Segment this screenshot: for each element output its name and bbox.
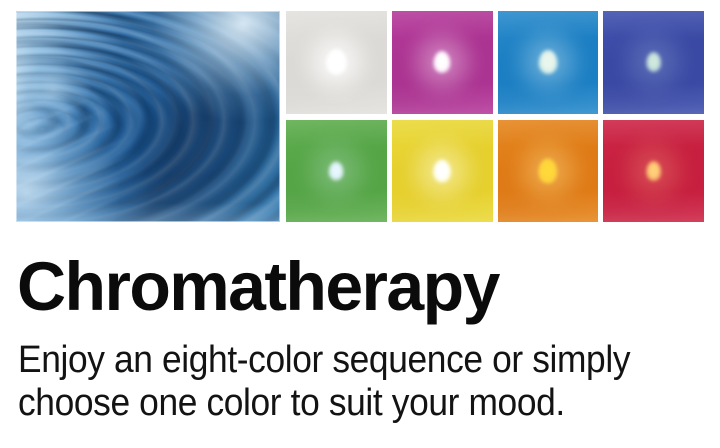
tile-magenta-shading: [392, 11, 493, 114]
tile-green: [286, 120, 387, 223]
page-subcopy: Enjoy an eight-color sequence or simply …: [18, 339, 650, 425]
tile-magenta: [392, 11, 493, 114]
color-tile-grid: [286, 11, 704, 222]
hero-inner-border: [16, 11, 280, 222]
water-ripple-image: [16, 11, 280, 222]
page-subcopy-line-1: Enjoy an eight-color sequence or simply: [18, 339, 650, 382]
tile-green-shading: [286, 120, 387, 223]
tile-red-shading: [603, 120, 704, 223]
tile-orange: [498, 120, 599, 223]
tile-yellow-shading: [392, 120, 493, 223]
tile-white: [286, 11, 387, 114]
chromatherapy-page: Chromatherapy Enjoy an eight-color seque…: [0, 0, 720, 448]
page-subcopy-line-2: choose one color to suit your mood.: [18, 382, 650, 425]
tile-white-shading: [286, 11, 387, 114]
tile-cyan-blue: [498, 11, 599, 114]
tile-indigo-shading: [603, 11, 704, 114]
tile-cyan-blue-shading: [498, 11, 599, 114]
media-strip: [0, 0, 720, 235]
page-title: Chromatherapy: [17, 252, 499, 321]
tile-red: [603, 120, 704, 223]
tile-indigo: [603, 11, 704, 114]
text-block: Chromatherapy Enjoy an eight-color seque…: [0, 235, 720, 448]
tile-orange-shading: [498, 120, 599, 223]
tile-yellow: [392, 120, 493, 223]
